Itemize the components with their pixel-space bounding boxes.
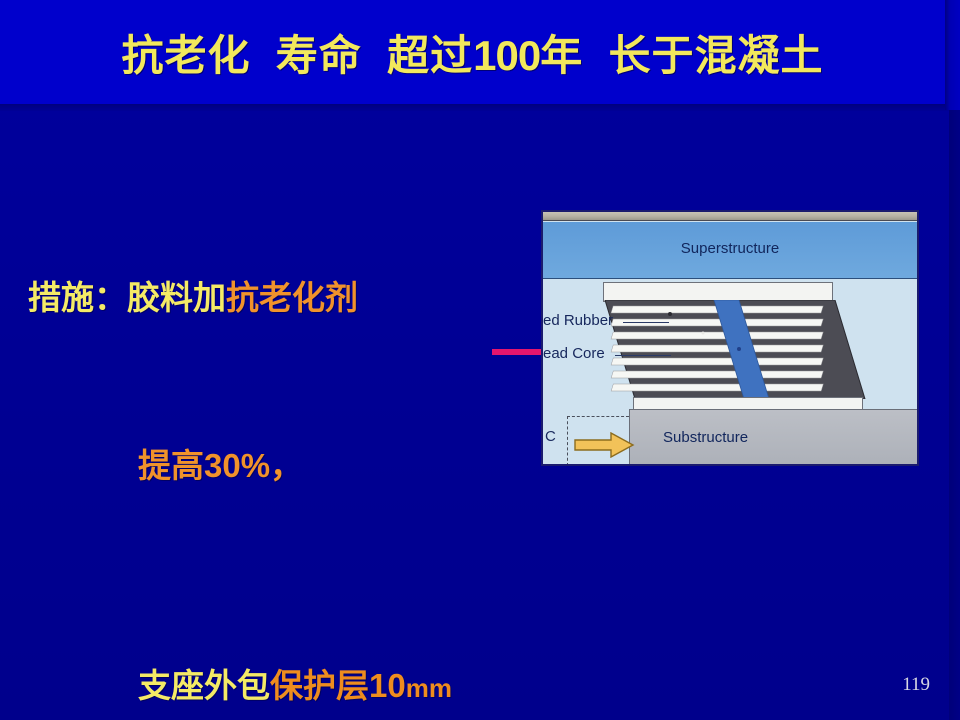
body-line-2: 提高30%， [28,438,528,494]
substructure-label: Substructure [663,429,748,446]
slide-canvas: 抗老化 寿命 超过100年 长于混凝土 措施：胶料加抗老化剂 提高30%， 支座… [0,0,960,720]
bearing-diagram-image: Superstructure Substructure [541,210,919,466]
line1-highlight: 抗老化剂 [226,279,358,316]
laminated-rubber-label: ed Rubber [543,312,613,329]
line2-highlight: 提高30%， [138,447,303,484]
body-line-1: 措施：胶料加抗老化剂 [28,270,528,326]
title-number: 100 [473,32,540,79]
slide-title: 抗老化 寿命 超过100年 长于混凝土 [0,30,945,82]
line1-label: 措施：胶料加 [28,279,226,316]
figure-label-c: C [545,428,556,445]
body-text-block: 措施：胶料加抗老化剂 提高30%， 支座外包保护层10mm [28,158,528,720]
displacement-arrow-icon [573,432,635,458]
page-number: 119 [902,674,930,696]
right-edge-lower [949,110,960,720]
core-leader-line [615,355,671,356]
title-band-shadow [0,104,960,111]
line3-label: 支座外包 [138,667,270,704]
superstructure-label: Superstructure [543,240,917,257]
line3-highlight: 保护层 [270,667,369,704]
lead-core-label: ead Core [543,345,605,362]
line3-value: 10 [369,667,406,704]
top-plate [603,282,833,302]
body-line-3: 支座外包保护层10mm [28,658,528,716]
right-edge-highlight [945,0,960,110]
rubber-leader-line [623,322,669,323]
title-part-1: 抗老化 寿命 超过 [121,32,473,79]
title-part-2: 年 长于混凝土 [540,32,823,79]
line3-unit: mm [406,673,452,703]
deck-strip [543,212,917,221]
